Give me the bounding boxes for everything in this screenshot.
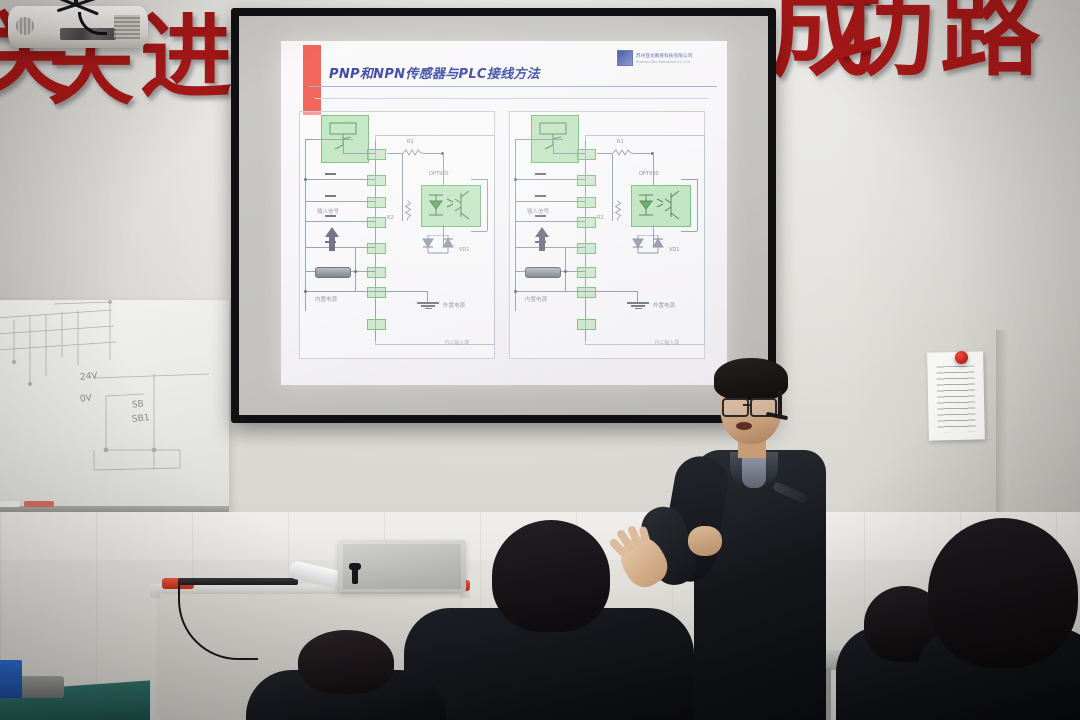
presenter-glasses-left [722, 398, 749, 417]
internal-power-supply [525, 267, 561, 278]
company-logo: 苏州亚龙教育科技有限公司 Suzhou Oho Education Co.,Lt… [617, 48, 713, 68]
wire-r1-right [423, 153, 443, 154]
contact-1 [535, 173, 546, 175]
terminal-7 [367, 287, 386, 298]
optocoupler-symbol-icon [631, 185, 689, 225]
blue-case [0, 660, 22, 698]
slide-title-rule [309, 86, 717, 87]
whiteboard-label-24v: 24V [80, 371, 99, 383]
wire-input-3 [305, 221, 375, 222]
sensor-symbol-icon [321, 115, 367, 161]
terminal-8 [367, 319, 386, 330]
whiteboard-label-sb: SB [132, 399, 145, 410]
wire-power-neg [515, 291, 585, 292]
junction-1 [304, 178, 307, 181]
wire-opto-top [653, 153, 654, 185]
wire-opto-top [443, 153, 444, 185]
wire-ext-power [585, 291, 637, 292]
wall-notice-sheet [927, 351, 985, 440]
terminal-2 [367, 175, 386, 186]
external-ground-icon [627, 301, 649, 310]
wire-ext-power [375, 291, 427, 292]
terminal-4 [577, 217, 596, 228]
terminal-2 [577, 175, 596, 186]
signal-arrow-stem [329, 237, 335, 251]
desk-equipment [18, 676, 64, 698]
diode-vd1-icon [627, 235, 673, 257]
label-internal-power: 内置电源 [315, 295, 337, 303]
whiteboard-circuit-sketch [0, 300, 229, 512]
junction-3 [564, 270, 567, 273]
label-input-signal: 输入信号 [317, 207, 339, 215]
wire-input-4 [515, 247, 585, 248]
contact-3 [535, 215, 546, 217]
wire-r1-left [597, 153, 613, 154]
presenter-shirt [742, 458, 766, 488]
audience-head [492, 520, 610, 632]
logo-company-en: Suzhou Oho Education Co.,Ltd [636, 60, 692, 64]
wire-input-1 [515, 179, 585, 180]
wall-sign-char-right-3: 路 [940, 0, 1040, 82]
wire-input-2 [305, 201, 375, 202]
presenter-glasses-bridge [743, 404, 751, 406]
wall-sign-char-left-3: 进 [140, 12, 232, 104]
signal-arrow-stem [539, 237, 545, 251]
terminal-1 [577, 149, 596, 160]
terminal-8 [577, 319, 596, 330]
red-magnet-icon [955, 351, 968, 364]
diode-vd1-icon [417, 235, 463, 257]
wire-power-return [355, 247, 356, 291]
label-internal-power: 内置电源 [525, 295, 547, 303]
wire-sensor-to-terminal [515, 139, 563, 140]
label-r2: R2 [387, 215, 394, 221]
logo-mark-icon [617, 50, 633, 66]
wire-sensor-drop [343, 139, 344, 153]
label-optocoupler: OPT930 [429, 171, 449, 177]
wire-input-3 [515, 221, 585, 222]
classroom-photo: 关 天 进 成 功 路 [0, 0, 1080, 720]
terminal-bus [375, 141, 376, 341]
label-r1: R1 [617, 139, 624, 145]
whiteboard-eraser [0, 501, 20, 507]
wire-sensor-to-terminal [305, 139, 353, 140]
signal-arrow-icon [535, 227, 549, 237]
field-bus-left [515, 139, 516, 311]
junction-2 [514, 290, 517, 293]
label-optocoupler: OPT930 [639, 171, 659, 177]
wall-sign-char-right-2: 功 [836, 0, 934, 82]
label-input-signal: 输入信号 [527, 207, 549, 215]
slide-title: PNP和NPN传感器与PLC接线方法 [329, 63, 540, 82]
wire-r1-left [387, 153, 403, 154]
wire-opto-out-bottom [681, 231, 697, 232]
wire-opto-out-right [487, 179, 488, 231]
presenter-hair [714, 358, 788, 400]
wire-opto-out-top [471, 179, 487, 180]
wire-r2-branch [402, 153, 403, 221]
wire-power-neg [305, 291, 375, 292]
audience-member-far-right [916, 518, 1080, 720]
presenter-mouth [736, 422, 752, 430]
desk-microphone [352, 566, 358, 584]
presentation-slide: PNP和NPN传感器与PLC接线方法 苏州亚龙教育科技有限公司 Suzhou O… [281, 41, 727, 385]
label-r1: R1 [407, 139, 414, 145]
label-external-power: 外置电源 [443, 301, 465, 309]
wire-opto-out-right [697, 179, 698, 231]
terminal-1 [367, 149, 386, 160]
label-external-power: 外置电源 [653, 301, 675, 309]
label-vd1: VD1 [459, 247, 469, 253]
terminal-6 [577, 267, 596, 278]
contact-2 [325, 195, 336, 197]
contact-3 [325, 215, 336, 217]
wire-opto-out-top [681, 179, 697, 180]
label-r2: R2 [597, 215, 604, 221]
wire-r1-right [633, 153, 653, 154]
optocoupler-symbol-icon [421, 185, 479, 225]
junction-1 [514, 178, 517, 181]
contact-2 [535, 195, 546, 197]
terminal-5 [367, 243, 386, 254]
junction-2 [304, 290, 307, 293]
resistor-r1-icon [403, 149, 423, 156]
diagram-footer-note: PLC输入端 [445, 339, 469, 346]
slide-title-rule-secondary [315, 98, 709, 99]
field-bus-left [305, 139, 306, 311]
wire-r2-branch [612, 153, 613, 221]
diagram-footer-note: PLC输入端 [655, 339, 679, 346]
internal-power-supply [315, 267, 351, 278]
audience-member-left [246, 630, 446, 720]
presenter [680, 360, 850, 720]
notice-text-lines [936, 366, 975, 433]
terminal-bus [585, 141, 586, 341]
whiteboard-label-0v: 0V [80, 393, 93, 404]
wire-sensor-drop [553, 139, 554, 153]
audience-head [298, 630, 394, 694]
wire-input-1 [305, 179, 375, 180]
sensor-symbol-icon [531, 115, 577, 161]
wire-power-return [565, 247, 566, 291]
terminal-6 [367, 267, 386, 278]
terminal-4 [367, 217, 386, 228]
resistor-r2-icon [405, 201, 412, 221]
wire-input-4 [305, 247, 375, 248]
terminal-5 [577, 243, 596, 254]
projection-screen-surface: PNP和NPN传感器与PLC接线方法 苏州亚龙教育科技有限公司 Suzhou O… [239, 16, 768, 415]
wire-input-2 [515, 201, 585, 202]
wire-opto-out-bottom [471, 231, 487, 232]
whiteboard-label-sb1: SB1 [132, 413, 151, 425]
external-ground-icon [417, 301, 439, 310]
projector-vent-icon [16, 17, 34, 35]
signal-arrow-icon [325, 227, 339, 237]
terminal-7 [577, 287, 596, 298]
wire-sensor-out [553, 153, 585, 154]
audience-member-center [404, 512, 694, 720]
terminal-3 [367, 197, 386, 208]
diagram-pnp: 输入信号 内置电源 R1 [299, 111, 495, 359]
logo-company-cn: 苏州亚龙教育科技有限公司 [636, 53, 692, 59]
junction-3 [354, 270, 357, 273]
contact-1 [325, 173, 336, 175]
presenter-headset-band [778, 390, 782, 416]
terminal-3 [577, 197, 596, 208]
diagram-npn: 输入信号 内置电源 R1 R2 [509, 111, 705, 359]
audience-head [928, 518, 1078, 668]
wire-sensor-out [343, 153, 375, 154]
slide-accent-bar [303, 45, 321, 115]
label-vd1: VD1 [669, 247, 679, 253]
projector-lens-panel [114, 15, 140, 39]
resistor-r1-icon [613, 149, 633, 156]
whiteboard-marker-red [24, 501, 54, 507]
resistor-r2-icon [615, 201, 622, 221]
